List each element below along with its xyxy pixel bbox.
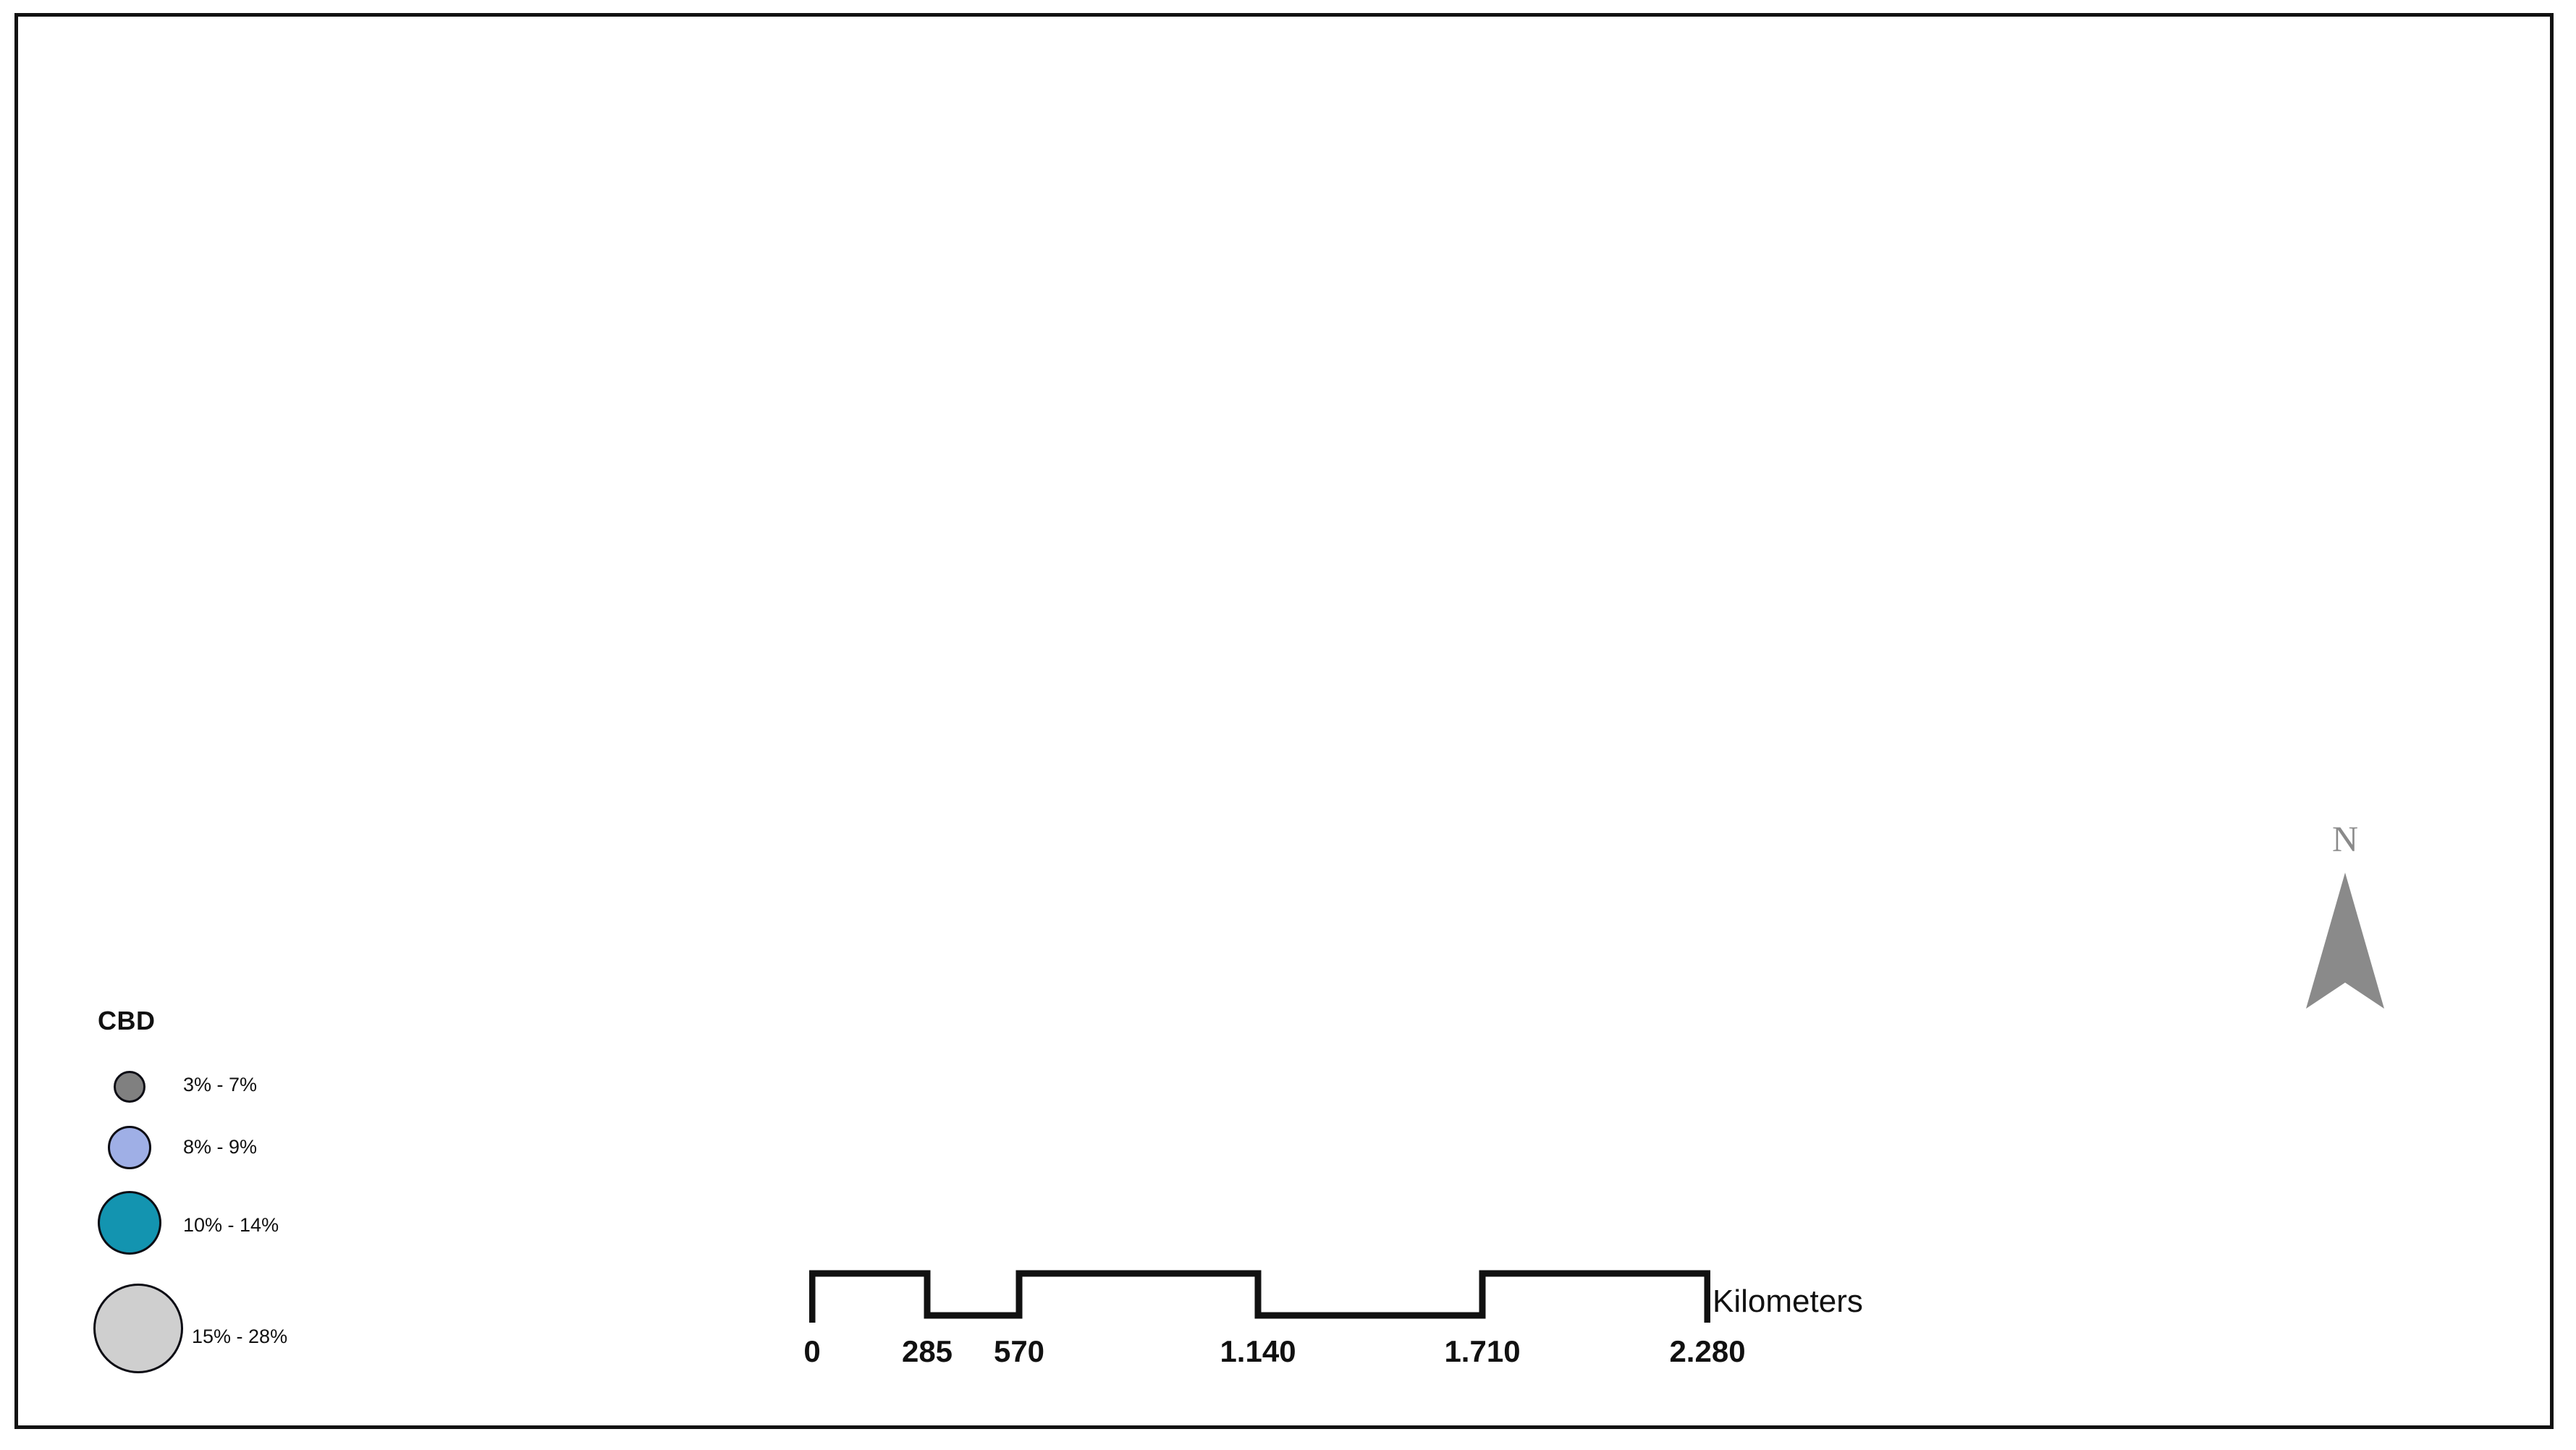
north-arrow: N: [2302, 818, 2432, 1013]
scalebar-tick-570: 570: [994, 1334, 1044, 1369]
legend-row: 10% - 14%: [98, 1188, 409, 1268]
legend-label-10-14: 10% - 14%: [183, 1214, 279, 1237]
legend-label-15-28: 15% - 28%: [192, 1326, 287, 1348]
legend-row: 15% - 28%: [98, 1284, 409, 1385]
scale-bar-graphic: [809, 1268, 1710, 1326]
scalebar-tick-0: 0: [803, 1334, 820, 1369]
north-arrow-icon: [2302, 867, 2389, 1012]
legend-swatch-10-14: [98, 1191, 161, 1255]
legend-label-3-7: 3% - 7%: [183, 1074, 257, 1096]
legend: CBD 3% - 7% 8% - 9% 10% - 14% 15% - 28%: [98, 1006, 409, 1382]
legend-swatch-3-7: [114, 1071, 145, 1103]
scalebar-tick-2280: 2.280: [1669, 1334, 1745, 1369]
scalebar-tick-1710: 1.710: [1444, 1334, 1520, 1369]
legend-swatch-15-28: [93, 1284, 183, 1373]
map-page: CBD 3% - 7% 8% - 9% 10% - 14% 15% - 28% …: [0, 0, 2576, 1450]
north-arrow-label: N: [2302, 818, 2389, 860]
legend-title: CBD: [98, 1006, 156, 1036]
legend-label-8-9: 8% - 9%: [183, 1136, 257, 1158]
scalebar-tick-285: 285: [902, 1334, 953, 1369]
scalebar-tick-1140: 1.140: [1220, 1334, 1296, 1369]
legend-swatch-8-9: [108, 1126, 151, 1169]
legend-row: 3% - 7%: [98, 1062, 409, 1113]
scale-bar: 0 285 570 1.140 1.710 2.280 Kilometers: [809, 1268, 1837, 1398]
scalebar-unit-label: Kilometers: [1713, 1284, 1863, 1320]
legend-row: 8% - 9%: [98, 1122, 409, 1179]
